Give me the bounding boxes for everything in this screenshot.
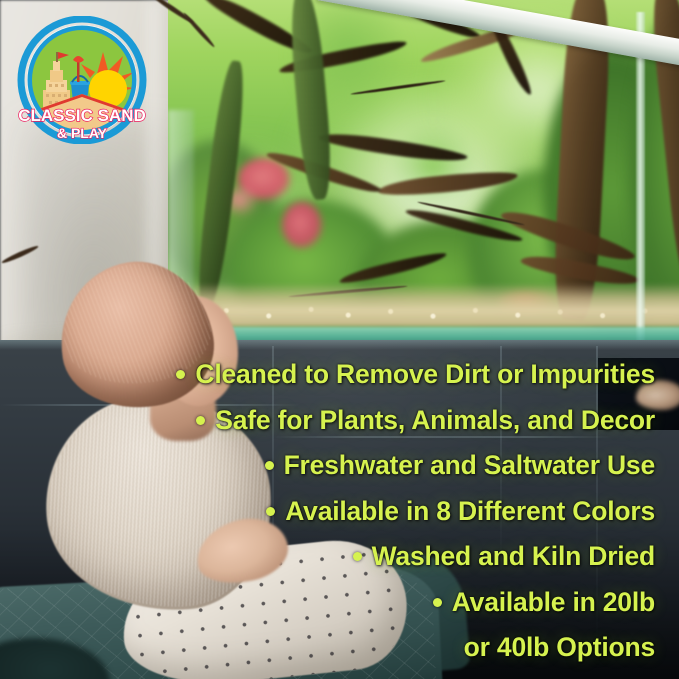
feature-bullet-text: Washed and Kiln Dried <box>372 541 655 571</box>
logo-wordmark-line2: & PLAY <box>57 125 108 141</box>
bullet-dot-icon <box>176 370 185 379</box>
bullet-dot-icon <box>265 461 274 470</box>
aquarium-glass-corner-post <box>636 12 645 342</box>
logo-wordmark-line1: CLASSIC SAND <box>18 106 146 125</box>
feature-bullet-item: Available in 8 Different Colors <box>0 489 655 535</box>
feature-bullet-item: Cleaned to Remove Dirt or Impurities <box>0 352 655 398</box>
planted-aquarium <box>168 0 679 345</box>
product-lifestyle-image: Cleaned to Remove Dirt or Impurities Saf… <box>0 0 679 679</box>
bullet-dot-icon <box>266 507 275 516</box>
bullet-dot-icon <box>353 552 362 561</box>
feature-bullet-item-continuation: or 40lb Options <box>0 625 655 671</box>
feature-bullet-item: Washed and Kiln Dried <box>0 534 655 580</box>
feature-bullet-list: Cleaned to Remove Dirt or Impurities Saf… <box>0 352 679 671</box>
feature-bullet-text: Available in 8 Different Colors <box>285 496 655 526</box>
sand-grains <box>168 299 679 325</box>
feature-bullet-text: Cleaned to Remove Dirt or Impurities <box>195 359 655 389</box>
plant-moss-mass <box>388 120 478 210</box>
feature-bullet-text: Freshwater and Saltwater Use <box>284 450 655 480</box>
bullet-dot-icon <box>196 416 205 425</box>
feature-bullet-text: or 40lb Options <box>464 632 655 662</box>
feature-bullet-item: Freshwater and Saltwater Use <box>0 443 655 489</box>
brand-logo-svg: CLASSIC SAND & PLAY <box>11 16 153 144</box>
feature-bullet-item: Available in 20lb <box>0 580 655 626</box>
feature-bullet-item: Safe for Plants, Animals, and Decor <box>0 398 655 444</box>
feature-bullet-text: Available in 20lb <box>452 587 655 617</box>
red-stem-plant <box>282 202 322 248</box>
bullet-dot-icon <box>433 598 442 607</box>
feature-bullet-text: Safe for Plants, Animals, and Decor <box>215 405 655 435</box>
brand-logo: CLASSIC SAND & PLAY <box>11 16 153 144</box>
